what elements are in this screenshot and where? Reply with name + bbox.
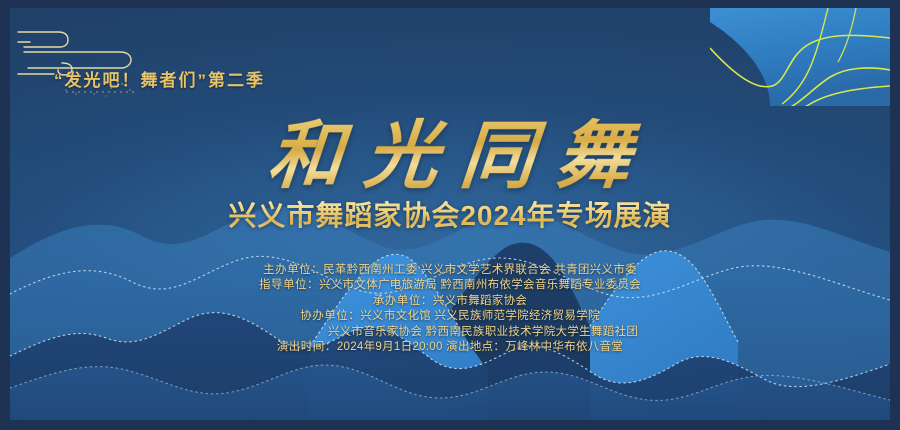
page-title: 和光同舞 bbox=[10, 96, 890, 203]
credit-value: 2024年9月1日20:00 演出地点：万峰林中华布依八音堂 bbox=[337, 341, 623, 353]
credit-line: 协办单位：兴义市文化馆 兴义民族师范学院经济贸易学院 bbox=[10, 309, 890, 324]
poster-inner-canvas: “发光吧！舞者们”第二季 和光同舞 兴义市舞蹈家协会2024年专场展演 主办单位… bbox=[10, 8, 890, 420]
credit-value: 兴义市音乐家协会 黔西南民族职业技术学院大学生舞蹈社团 bbox=[328, 326, 638, 338]
credit-label: 指导单位： bbox=[259, 279, 319, 291]
credit-value: 民革黔西南州工委 兴义市文学艺术界联合会 共青团兴义市委 bbox=[323, 264, 637, 276]
poster-canvas: “发光吧！舞者们”第二季 和光同舞 兴义市舞蹈家协会2024年专场展演 主办单位… bbox=[0, 0, 900, 430]
main-title-text: 和光同舞 bbox=[242, 96, 657, 203]
subtitle-text: 兴义市舞蹈家协会2024年专场展演 bbox=[10, 194, 890, 234]
credit-value: 兴义市文体广电旅游局 黔西南州布依学会音乐舞蹈专业委员会 bbox=[319, 279, 641, 291]
credit-value: 兴义市舞蹈家协会 bbox=[433, 295, 527, 307]
credits-block: 主办单位：民革黔西南州工委 兴义市文学艺术界联合会 共青团兴义市委 指导单位：兴… bbox=[10, 263, 890, 355]
credit-line-schedule: 演出时间：2024年9月1日20:00 演出地点：万峰林中华布依八音堂 bbox=[10, 340, 890, 355]
credit-label: 协办单位： bbox=[300, 310, 360, 322]
credit-line: 主办单位：民革黔西南州工委 兴义市文学艺术界联合会 共青团兴义市委 bbox=[10, 263, 890, 278]
credit-label: 承办单位： bbox=[373, 295, 433, 307]
credit-value: 兴义市文化馆 兴义民族师范学院经济贸易学院 bbox=[360, 310, 600, 322]
credit-line: 兴义市音乐家协会 黔西南民族职业技术学院大学生舞蹈社团 bbox=[10, 325, 890, 340]
credit-label: 演出时间： bbox=[277, 341, 337, 353]
credit-label: 主办单位： bbox=[263, 264, 323, 276]
credit-line: 承办单位：兴义市舞蹈家协会 bbox=[10, 294, 890, 309]
kicker-text: “发光吧！舞者们”第二季 bbox=[54, 66, 265, 91]
credit-line: 指导单位：兴义市文体广电旅游局 黔西南州布依学会音乐舞蹈专业委员会 bbox=[10, 278, 890, 293]
